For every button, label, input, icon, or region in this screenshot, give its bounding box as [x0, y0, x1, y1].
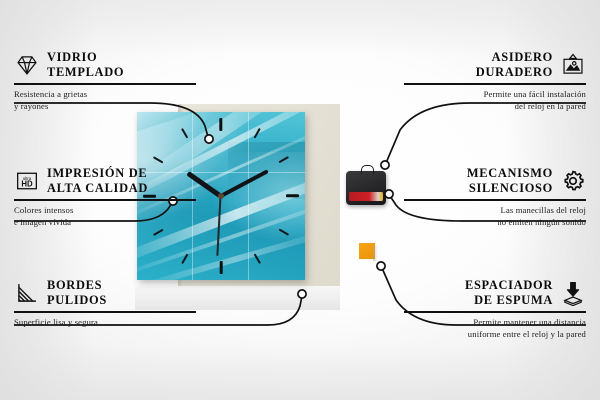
feature-impresion-alta-calidad: ultra HD IMPRESIÓN DE ALTA CALIDAD Color… [14, 166, 196, 229]
gear-icon [560, 168, 586, 194]
feature-divider [404, 199, 586, 201]
clock-tick [153, 156, 164, 163]
feature-title-line2: PULIDOS [47, 293, 107, 308]
mechanism-battery [349, 192, 383, 201]
wall-hanger-picture-icon [560, 52, 586, 78]
clock-tick [278, 229, 289, 236]
feature-title-line1: ESPACIADOR [465, 278, 553, 293]
ultra-hd-icon: ultra HD [14, 168, 40, 194]
clock-tick [254, 253, 261, 264]
feature-divider [14, 311, 196, 313]
diamond-icon [14, 52, 40, 78]
mechanism-hanger-hook [361, 165, 374, 174]
clock-tick [219, 261, 222, 274]
feature-title-line1: IMPRESIÓN DE [47, 166, 148, 181]
feature-vidrio-templado: VIDRIO TEMPLADO Resistencia a grietas y … [14, 50, 196, 113]
feature-desc-line1: Superficie lisa y segura [14, 317, 196, 329]
foam-spacer-arrow-icon [560, 280, 586, 306]
feature-desc-line2: y rayones [14, 101, 196, 113]
feature-desc-line1: Las manecillas del reloj [404, 205, 586, 217]
feature-divider [404, 83, 586, 85]
feature-desc-line1: Permite mantener una distancia [404, 317, 586, 329]
foam-spacer-shadow [373, 246, 378, 261]
feature-desc-line1: Colores intensos [14, 205, 196, 217]
clock-tick [219, 118, 222, 131]
clock-second-hand [217, 196, 222, 256]
polished-edge-icon [14, 280, 40, 306]
feature-title-line2: SILENCIOSO [467, 181, 553, 196]
feature-title-line2: TEMPLADO [47, 65, 124, 80]
feature-bordes-pulidos: BORDES PULIDOS Superficie lisa y segura [14, 278, 196, 329]
feature-title-line2: DURADERO [476, 65, 553, 80]
clock-minute-hand [220, 169, 269, 198]
feature-title-line2: DE ESPUMA [465, 293, 553, 308]
clock-tick [153, 229, 164, 236]
connector-node-asidero [381, 161, 389, 169]
feature-title-line1: MECANISMO [467, 166, 553, 181]
clock-tick [181, 253, 188, 264]
feature-title-line1: BORDES [47, 278, 107, 293]
feature-desc-line1: Permite una fácil instalación [404, 89, 586, 101]
feature-desc-line2: e imagen vívida [14, 217, 196, 229]
feature-asidero-duradero: ASIDERO DURADERO Permite una fácil insta… [404, 50, 586, 113]
feature-title-line2: ALTA CALIDAD [47, 181, 148, 196]
clock-tick [254, 128, 261, 139]
feature-title-line1: ASIDERO [476, 50, 553, 65]
feature-desc-line1: Resistencia a grietas [14, 89, 196, 101]
feature-desc-line2: uniforme entre el reloj y la pared [404, 329, 586, 341]
feature-divider [404, 311, 586, 313]
clock-tick [181, 128, 188, 139]
feature-desc-line2: no emiten ningún sonido [404, 217, 586, 229]
connector-node-mecanismo [385, 190, 393, 198]
infographic-canvas: VIDRIO TEMPLADO Resistencia a grietas y … [0, 0, 600, 400]
clock-center-pin [218, 193, 224, 199]
feature-title-line1: VIDRIO [47, 50, 124, 65]
feature-divider [14, 199, 196, 201]
svg-text:HD: HD [21, 180, 33, 189]
clock-tick [278, 156, 289, 163]
feature-desc-line2: del reloj en la pared [404, 101, 586, 113]
clock-tick [286, 194, 299, 197]
feature-divider [14, 83, 196, 85]
connector-node-espaciador [377, 262, 385, 270]
feature-mecanismo-silencioso: MECANISMO SILENCIOSO Las manecillas del … [404, 166, 586, 229]
feature-espaciador-de-espuma: ESPACIADOR DE ESPUMA Permite mantener un… [404, 278, 586, 341]
